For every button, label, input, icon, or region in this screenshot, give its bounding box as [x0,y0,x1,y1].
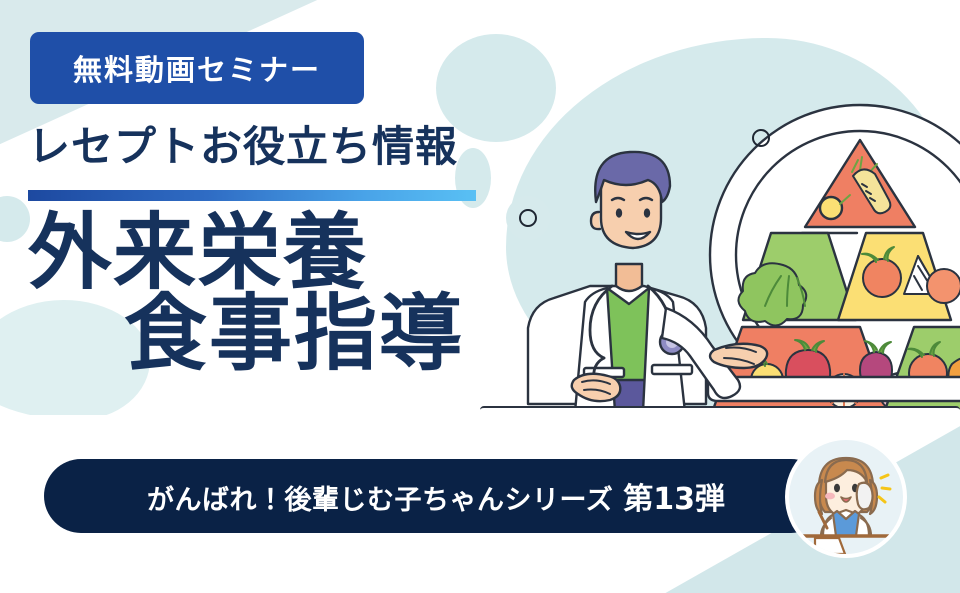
free-seminar-badge-label: 無料動画セミナー [73,47,321,89]
free-seminar-badge: 無料動画セミナー [30,32,364,104]
series-banner: がんばれ！後輩じむ子ちゃんシリーズ第13弾 [44,459,828,533]
series-banner-label: がんばれ！後輩じむ子ちゃんシリーズ第13弾 [147,474,725,518]
series-banner-title: がんばれ！後輩じむ子ちゃんシリーズ [147,485,613,516]
page-title-line-1: 外来栄養 [28,212,588,293]
subtitle-underline-rule [28,190,476,201]
page-title: 外来栄養 食事指導 [28,212,588,375]
jimuko-avatar [789,440,903,554]
subtitle-text: レセプトお役立ち情報 [28,126,458,168]
promo-banner: 無料動画セミナー レセプトお役立ち情報 外来栄養 食事指導 がんばれ！後輩じむ子… [0,0,960,593]
series-banner-volume: 第13弾 [623,482,725,517]
teal-dot-left [0,196,30,242]
page-title-line-2: 食事指導 [28,293,588,374]
